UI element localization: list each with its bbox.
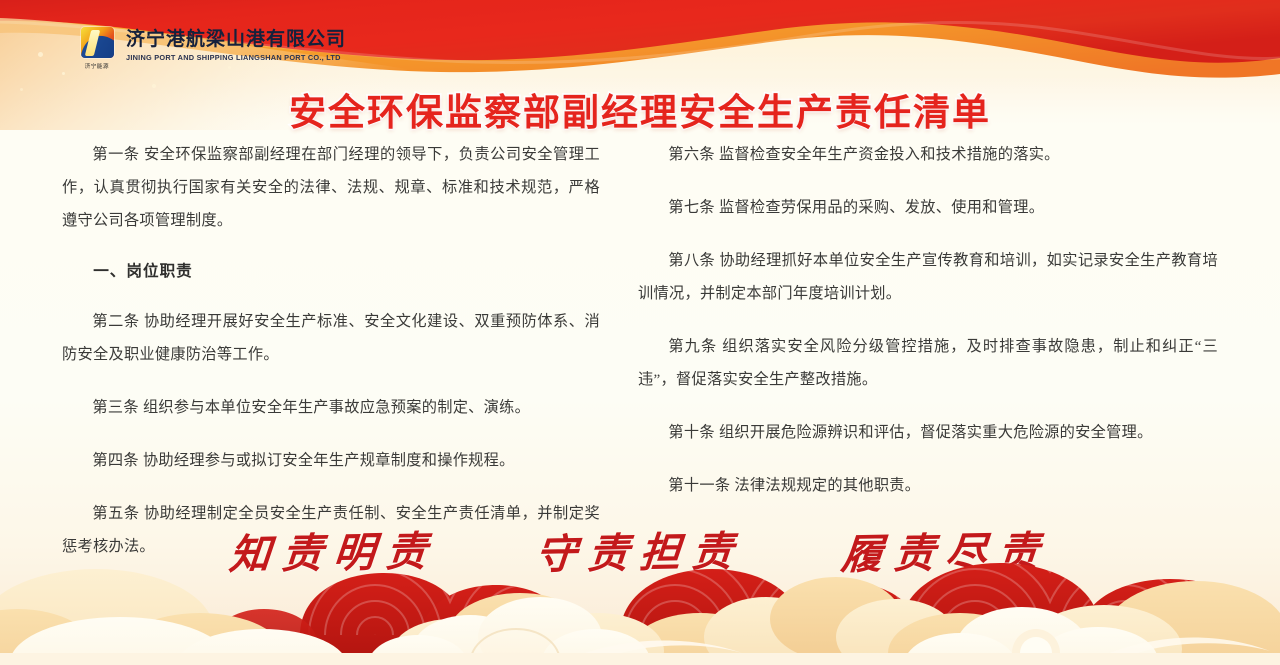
article-paragraph: 第四条 协助经理参与或拟订安全年生产规章制度和操作规程。 <box>62 444 600 477</box>
article-paragraph: 第十一条 法律法规规定的其他职责。 <box>638 469 1218 502</box>
company-logo: 济宁能源 济宁港航梁山港有限公司 JINING PORT AND SHIPPIN… <box>76 27 346 70</box>
article-paragraph: 第五条 协助经理制定全员安全生产责任制、安全生产责任清单，并制定奖惩考核办法。 <box>62 497 600 563</box>
jining-energy-logo-icon <box>81 27 114 58</box>
logo-text-block: 济宁港航梁山港有限公司 JINING PORT AND SHIPPING LIA… <box>126 27 346 62</box>
safety-responsibility-poster: 济宁能源 济宁港航梁山港有限公司 JINING PORT AND SHIPPIN… <box>0 0 1280 665</box>
left-column: 第一条 安全环保监察部副经理在部门经理的领导下，负责公司安全管理工作，认真贯彻执… <box>0 138 620 498</box>
article-paragraph: 第一条 安全环保监察部副经理在部门经理的领导下，负责公司安全管理工作，认真贯彻执… <box>62 138 600 237</box>
logo-mark-wrap: 济宁能源 <box>76 27 118 70</box>
article-paragraph: 第二条 协助经理开展好安全生产标准、安全文化建设、双重预防体系、消防安全及职业健… <box>62 305 600 371</box>
article-paragraph: 第三条 组织参与本单位安全年生产事故应急预案的制定、演练。 <box>62 391 600 424</box>
company-name-en: JINING PORT AND SHIPPING LIANGSHAN PORT … <box>126 53 342 62</box>
article-paragraph: 第七条 监督检查劳保用品的采购、发放、使用和管理。 <box>638 191 1218 224</box>
article-paragraph: 第九条 组织落实安全风险分级管控措施，及时排查事故隐患，制止和纠正“三违”，督促… <box>638 330 1218 396</box>
sparkle-dot <box>38 52 43 57</box>
article-paragraph: 第十条 组织开展危险源辨识和评估，督促落实重大危险源的安全管理。 <box>638 416 1218 449</box>
page-title: 安全环保监察部副经理安全生产责任清单 <box>0 82 1280 136</box>
right-column: 第六条 监督检查安全年生产资金投入和技术措施的落实。 第七条 监督检查劳保用品的… <box>620 138 1280 498</box>
content-columns: 第一条 安全环保监察部副经理在部门经理的领导下，负责公司安全管理工作，认真贯彻执… <box>0 138 1280 498</box>
article-paragraph: 第八条 协助经理抓好本单位安全生产宣传教育和培训，如实记录安全生产教育培训情况，… <box>638 244 1218 310</box>
red-mountain-layer <box>210 563 1262 665</box>
section-heading: 一、岗位职责 <box>62 257 600 287</box>
slogan-phrase: 履责尽责 <box>839 517 1053 581</box>
sparkle-dot <box>62 72 65 75</box>
cream-cloud-layer <box>0 597 1280 665</box>
article-paragraph: 第六条 监督检查安全年生产资金投入和技术措施的落实。 <box>638 138 1218 171</box>
tan-cloud-layer <box>0 569 1280 665</box>
logo-mark-caption: 济宁能源 <box>85 61 109 70</box>
company-name-cn: 济宁港航梁山港有限公司 <box>126 29 346 51</box>
